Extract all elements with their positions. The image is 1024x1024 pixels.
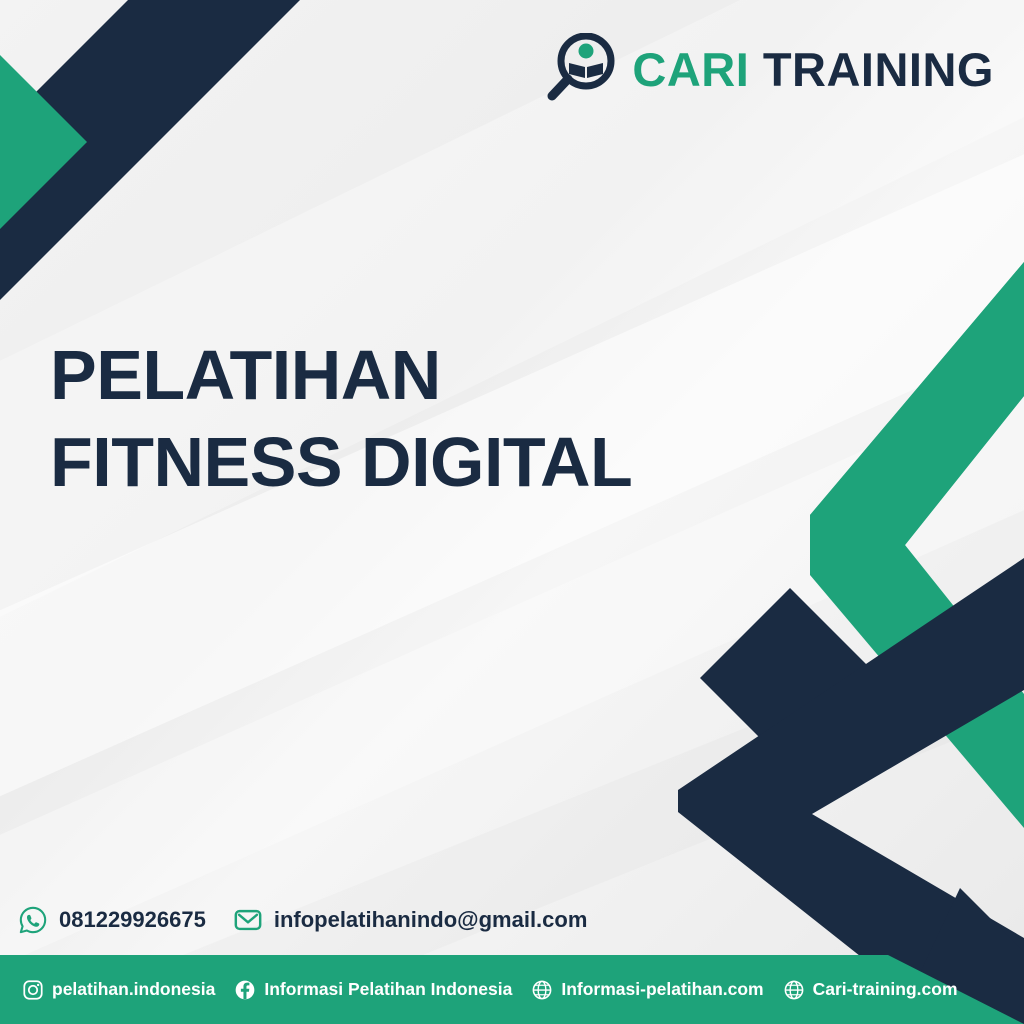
social-item-instagram[interactable]: pelatihan.indonesia [22,979,215,1001]
whatsapp-icon [18,905,48,935]
social-row: pelatihan.indonesia Informasi Pelatihan … [22,955,977,1024]
social-website-1-label: Informasi-pelatihan.com [561,979,763,1000]
social-website-2-label: Cari-training.com [813,979,958,1000]
social-item-website-2[interactable]: Cari-training.com [783,979,958,1001]
globe-icon [783,979,805,1001]
magnifier-book-icon [544,33,616,105]
page-title: PELATIHAN FITNESS DIGITAL [50,332,730,507]
contact-email-label: infopelatihanindo@gmail.com [274,907,588,933]
contact-row: 081229926675 infopelatihanindo@gmail.com [18,905,587,935]
globe-icon [531,979,553,1001]
contact-item-email[interactable]: infopelatihanindo@gmail.com [233,905,588,935]
brand-name-part2: TRAINING [763,43,994,96]
instagram-icon [22,979,44,1001]
brand-name-part1: CARI [632,43,749,96]
brand-name: CARI TRAINING [632,46,994,93]
social-facebook-label: Informasi Pelatihan Indonesia [264,979,512,1000]
contact-item-whatsapp[interactable]: 081229926675 [18,905,206,935]
facebook-icon [234,979,256,1001]
bottom-social-bar: pelatihan.indonesia Informasi Pelatihan … [0,955,1024,1024]
contact-whatsapp-label: 081229926675 [59,907,206,933]
social-item-website-1[interactable]: Informasi-pelatihan.com [531,979,763,1001]
social-instagram-label: pelatihan.indonesia [52,979,215,1000]
poster-canvas: CARI TRAINING PELATIHAN FITNESS DIGITAL … [0,0,1024,1024]
email-icon [233,905,263,935]
social-item-facebook[interactable]: Informasi Pelatihan Indonesia [234,979,512,1001]
brand-logo[interactable]: CARI TRAINING [544,33,994,105]
